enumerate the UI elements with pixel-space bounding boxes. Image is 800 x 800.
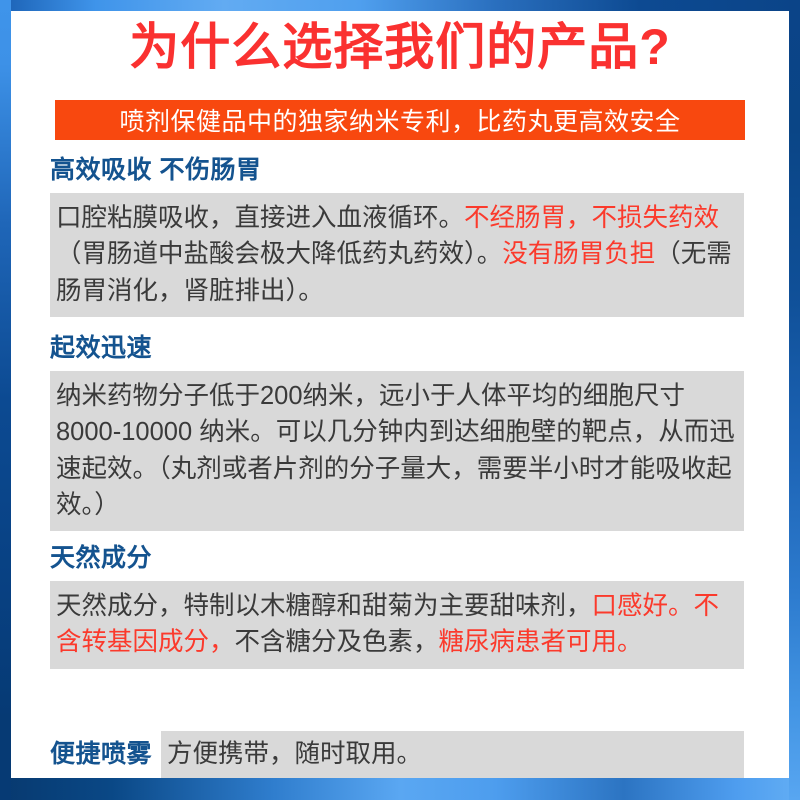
subtitle-banner: 喷剂保健品中的独家纳米专利，比药丸更高效安全	[55, 100, 745, 140]
section-heading-natural-ingredients: 天然成分	[50, 543, 744, 574]
section-body-absorption: 口腔粘膜吸收，直接进入血液循环。不经肠胃，不损失药效（胃肠道中盐酸会极大降低药丸…	[50, 193, 744, 317]
poster-canvas: 为什么选择我们的产品? 喷剂保健品中的独家纳米专利，比药丸更高效安全 高效吸收 …	[11, 11, 789, 778]
section-body-natural-ingredients: 天然成分，特制以木糖醇和甜菊为主要甜味剂，口感好。不含转基因成分，不含糖分及色素…	[50, 581, 744, 668]
section-body-fast-acting: 纳米药物分子低于200纳米，远小于人体平均的细胞尺寸8000-10000 纳米。…	[50, 371, 744, 531]
feature-section-fast-acting: 起效迅速 纳米药物分子低于200纳米，远小于人体平均的细胞尺寸8000-1000…	[50, 333, 744, 531]
text-run-normal: 方便携带，随时取用。	[167, 736, 422, 772]
frame-border-top	[0, 0, 800, 11]
feature-section-absorption: 高效吸收 不伤肠胃 口腔粘膜吸收，直接进入血液循环。不经肠胃，不损失药效（胃肠道…	[50, 155, 744, 317]
feature-section-convenient-spray: 便捷喷雾 方便携带，随时取用。	[50, 731, 744, 778]
page-title: 为什么选择我们的产品?	[11, 19, 789, 75]
text-run-normal: 不含糖分及色素，	[235, 628, 439, 656]
frame-border-left	[0, 0, 11, 800]
text-run-highlight: 没有肠胃负担	[502, 240, 655, 268]
text-run-normal: 口腔粘膜吸收，直接进入血液循环。	[56, 204, 464, 232]
text-run-highlight: 糖尿病患者可用。	[439, 628, 643, 656]
section-body-convenient-spray: 方便携带，随时取用。	[161, 731, 744, 778]
section-heading-absorption: 高效吸收 不伤肠胃	[50, 155, 744, 186]
feature-section-natural-ingredients: 天然成分 天然成分，特制以木糖醇和甜菊为主要甜味剂，口感好。不含转基因成分，不含…	[50, 543, 744, 669]
section-heading-convenient-spray: 便捷喷雾	[50, 731, 161, 778]
poster-root: 为什么选择我们的产品? 喷剂保健品中的独家纳米专利，比药丸更高效安全 高效吸收 …	[0, 0, 800, 800]
frame-border-bottom	[0, 778, 800, 800]
section-heading-fast-acting: 起效迅速	[50, 333, 744, 364]
text-run-normal: （胃肠道中盐酸会极大降低药丸药效）。	[56, 240, 502, 268]
text-run-normal: 天然成分，特制以木糖醇和甜菊为主要甜味剂，	[56, 592, 592, 620]
frame-border-right	[789, 0, 800, 800]
text-run-normal: 纳米药物分子低于200纳米，远小于人体平均的细胞尺寸8000-10000 纳米。…	[56, 382, 735, 519]
text-run-highlight: 不经肠胃，不损失药效	[464, 204, 719, 232]
